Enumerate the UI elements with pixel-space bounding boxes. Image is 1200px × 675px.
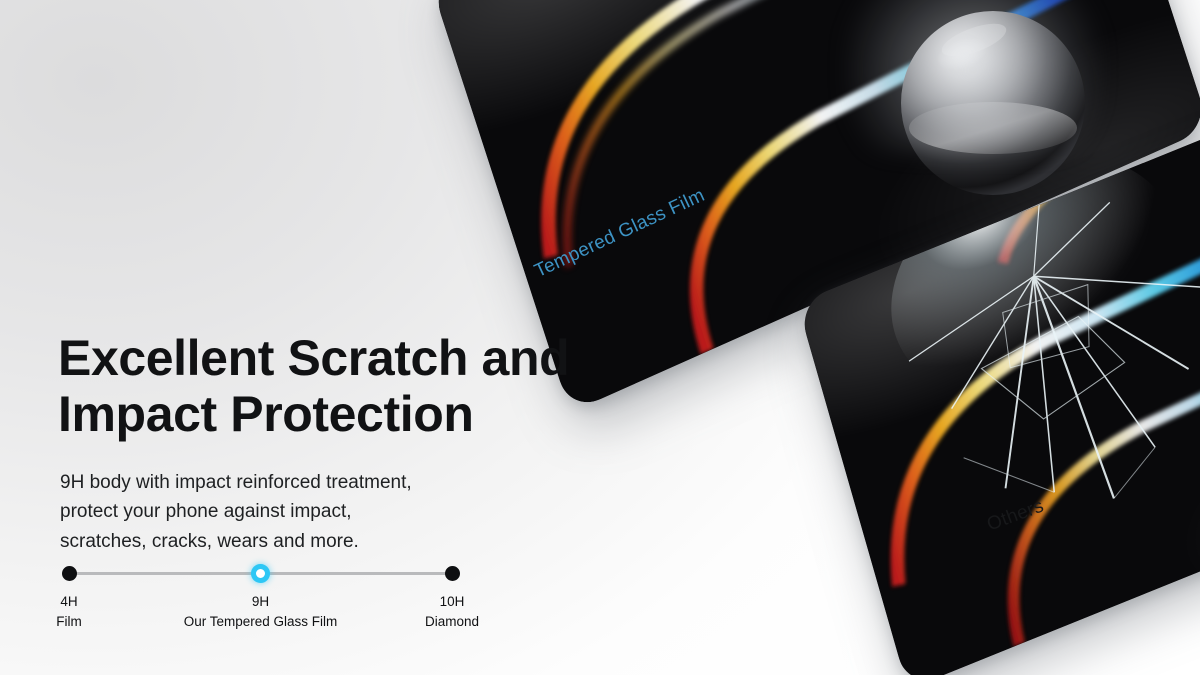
scale-node-value: 10H bbox=[425, 592, 479, 612]
scale-node-name: Film bbox=[56, 612, 82, 632]
scale-node-label: 9HOur Tempered Glass Film bbox=[184, 592, 338, 631]
scale-node-name: Diamond bbox=[425, 612, 479, 632]
hardness-scale: 4HFilm9HOur Tempered Glass Film10HDiamon… bbox=[58, 560, 528, 650]
scale-node-value: 9H bbox=[184, 592, 338, 612]
scale-marker-icon[interactable] bbox=[445, 566, 460, 581]
description-line-1: 9H body with impact reinforced treatment… bbox=[60, 468, 490, 497]
headline-line-1: Excellent Scratch and bbox=[58, 330, 569, 386]
steel-ball bbox=[900, 10, 1086, 196]
scale-marker-icon[interactable] bbox=[62, 566, 77, 581]
description-line-3: scratches, cracks, wears and more. bbox=[60, 527, 490, 556]
description-text: 9H body with impact reinforced treatment… bbox=[60, 468, 490, 556]
scale-node-value: 4H bbox=[56, 592, 82, 612]
scale-node-name: Our Tempered Glass Film bbox=[184, 612, 338, 632]
scale-node-label: 10HDiamond bbox=[425, 592, 479, 631]
copy-block: Excellent Scratch and Impact Protection … bbox=[58, 330, 618, 556]
headline-line-2: Impact Protection bbox=[58, 386, 618, 442]
description-line-2: protect your phone against impact, bbox=[60, 497, 490, 526]
scale-marker-active-icon[interactable] bbox=[251, 564, 270, 583]
product-feature-slide: Tempered Glass Film Others Excellent Scr… bbox=[0, 0, 1200, 675]
scale-node-label: 4HFilm bbox=[56, 592, 82, 631]
page-title: Excellent Scratch and Impact Protection bbox=[58, 330, 618, 442]
